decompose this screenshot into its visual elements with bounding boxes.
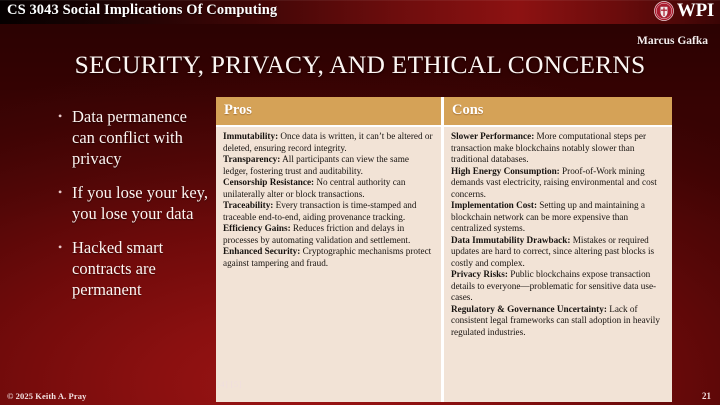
cons-entry-term: Data Immutability Drawback: (451, 235, 570, 245)
table-row: Immutability: Once data is written, it c… (216, 127, 672, 402)
bullet-text: Data permanence can conflict with privac… (72, 106, 208, 169)
column-header-cons: Cons (444, 97, 672, 127)
course-title: CS 3043 Social Implications Of Computing (7, 2, 277, 19)
bullet-marker-icon: • (58, 106, 72, 127)
column-header-pros: Pros (216, 97, 444, 127)
wpi-wordmark: WPI (677, 1, 714, 21)
pros-cons-table: Pros Cons Immutability: Once data is wri… (216, 97, 672, 402)
pros-entry-term: Efficiency Gains: (223, 223, 291, 233)
bullet-marker-icon: • (58, 182, 72, 203)
presentation-slide: CS 3043 Social Implications Of Computing… (0, 0, 720, 405)
pros-entry-term: Enhanced Security: (223, 246, 300, 256)
bullet-text: If you lose your key, you lose your data (72, 182, 208, 224)
pros-entry: Traceability: Every transaction is time-… (223, 200, 435, 223)
pros-entry: Transparency: All participants can view … (223, 154, 435, 177)
copyright-notice: © 2025 Keith A. Pray (7, 391, 86, 401)
wpi-logo: WPI (654, 1, 714, 21)
pros-entry: Immutability: Once data is written, it c… (223, 131, 435, 154)
page-number: 21 (702, 391, 711, 401)
pros-entry: Censorship Resistance: No central author… (223, 177, 435, 200)
slide-title: SECURITY, PRIVACY, AND ETHICAL CONCERNS (0, 50, 720, 80)
pros-entry-term: Traceability: (223, 200, 273, 210)
cons-entry: Slower Performance: More computational s… (451, 131, 666, 166)
cons-cell: Slower Performance: More computational s… (444, 127, 672, 402)
list-item: • Data permanence can conflict with priv… (58, 106, 208, 169)
pros-entry-term: Censorship Resistance: (223, 177, 314, 187)
pros-entry-term: Transparency: (223, 154, 280, 164)
wpi-seal-icon (654, 1, 674, 21)
cons-entry: Privacy Risks: Public blockchains expose… (451, 269, 666, 304)
table-header-row: Pros Cons (216, 97, 672, 127)
author-name: Marcus Gafka (637, 35, 708, 47)
pros-entry: Efficiency Gains: Reduces friction and d… (223, 223, 435, 246)
cons-entry-term: Regulatory & Governance Uncertainty: (451, 304, 607, 314)
cons-entry-term: Slower Performance: (451, 131, 534, 141)
pros-cell: Immutability: Once data is written, it c… (216, 127, 444, 402)
cons-entry: Implementation Cost: Setting up and main… (451, 200, 666, 235)
cons-entry-term: High Energy Consumption: (451, 166, 560, 176)
cons-entry-term: Implementation Cost: (451, 200, 537, 210)
bullet-text: Hacked smart contracts are permanent (72, 237, 208, 300)
pros-entry: Enhanced Security: Cryptographic mechani… (223, 246, 435, 269)
cons-entry: Regulatory & Governance Uncertainty: Lac… (451, 304, 666, 339)
list-item: • If you lose your key, you lose your da… (58, 182, 208, 224)
cons-entry-term: Privacy Risks: (451, 269, 508, 279)
pros-entry-term: Immutability: (223, 131, 278, 141)
list-item: • Hacked smart contracts are permanent (58, 237, 208, 300)
slide-header-bar: CS 3043 Social Implications Of Computing… (0, 0, 720, 24)
cons-entry: Data Immutability Drawback: Mistakes or … (451, 235, 666, 270)
citation-references: [4] [5] (217, 379, 242, 389)
bullet-list: • Data permanence can conflict with priv… (58, 106, 208, 313)
bullet-marker-icon: • (58, 237, 72, 258)
cons-entry: High Energy Consumption: Proof-of-Work m… (451, 166, 666, 201)
